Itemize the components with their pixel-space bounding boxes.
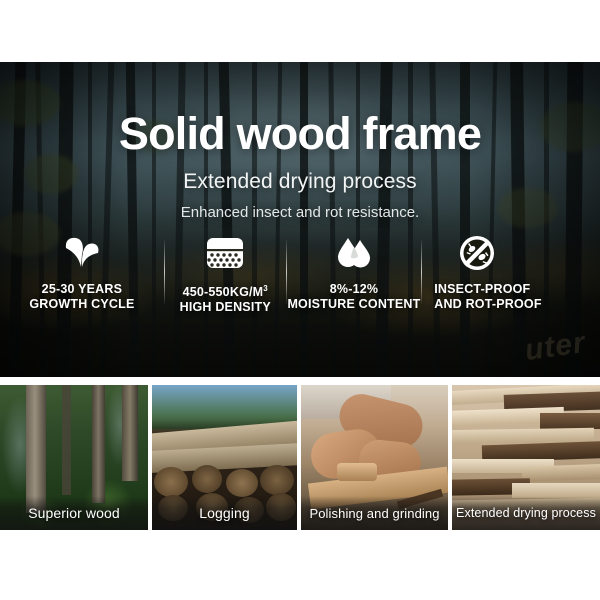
- gallery-caption-text: Extended drying process: [456, 506, 596, 520]
- feature-growth-cycle: 25-30 YEARS GROWTH CYCLE: [0, 232, 164, 311]
- process-gallery: Superior wood Logging: [0, 385, 600, 530]
- feature-density-line2: HIGH DENSITY: [180, 300, 271, 315]
- density-unit-superscript: 3: [263, 284, 268, 293]
- gallery-caption: Polishing and grinding: [301, 496, 448, 530]
- insect-proof-icon: [458, 232, 496, 274]
- hero-subheading: Extended drying process: [0, 170, 600, 194]
- leaf-sprout-icon: [62, 232, 102, 274]
- hero-tagline: Enhanced insect and rot resistance.: [0, 204, 600, 221]
- gallery-item-superior-wood[interactable]: Superior wood: [0, 385, 148, 530]
- log-end: [260, 465, 294, 495]
- gallery-caption-text: Logging: [199, 505, 250, 521]
- feature-density: 450-550KG/M3 HIGH DENSITY: [165, 232, 286, 314]
- feature-moisture-line2: MOISTURE CONTENT: [287, 297, 420, 312]
- hand-plane: [337, 463, 377, 481]
- feature-density-line1: 450-550KG/M3: [183, 282, 268, 300]
- feature-growth-cycle-line1: 25-30 YEARS: [42, 282, 122, 297]
- feature-moisture-line1: 8%-12%: [330, 282, 378, 297]
- timber-board: [522, 463, 600, 481]
- log-end: [154, 467, 188, 497]
- feature-moisture: 8%-12% MOISTURE CONTENT: [287, 232, 422, 311]
- tree-trunk: [26, 385, 46, 513]
- log-end: [192, 465, 222, 493]
- tree-trunk: [122, 385, 138, 481]
- gallery-caption-text: Superior wood: [28, 505, 120, 521]
- gallery-item-drying[interactable]: Extended drying process: [452, 385, 600, 530]
- water-droplets-icon: [334, 232, 374, 274]
- gallery-item-logging[interactable]: Logging: [152, 385, 297, 530]
- feature-insect-proof-line2: AND ROT-PROOF: [434, 297, 541, 312]
- page-title: Solid wood frame: [0, 108, 600, 160]
- tree-trunk: [62, 385, 71, 495]
- gallery-caption: Superior wood: [0, 496, 148, 530]
- density-block-icon: [206, 232, 244, 274]
- gallery-item-polishing[interactable]: Polishing and grinding: [301, 385, 448, 530]
- timber-board: [540, 413, 600, 429]
- gallery-caption: Extended drying process: [452, 496, 600, 530]
- tree-trunk: [92, 385, 105, 503]
- product-infographic: Solid wood frame Extended drying process…: [0, 0, 600, 600]
- gallery-caption: Logging: [152, 496, 297, 530]
- feature-growth-cycle-line2: GROWTH CYCLE: [29, 297, 134, 312]
- feature-list: 25-30 YEARS GROWTH CYCLE: [0, 232, 600, 352]
- feature-insect-proof: INSECT-PROOF AND ROT-PROOF: [422, 232, 600, 311]
- feature-insect-proof-line1: INSECT-PROOF: [434, 282, 530, 297]
- log-end: [226, 469, 258, 497]
- gallery-caption-text: Polishing and grinding: [309, 506, 439, 521]
- hero-banner: Solid wood frame Extended drying process…: [0, 62, 600, 377]
